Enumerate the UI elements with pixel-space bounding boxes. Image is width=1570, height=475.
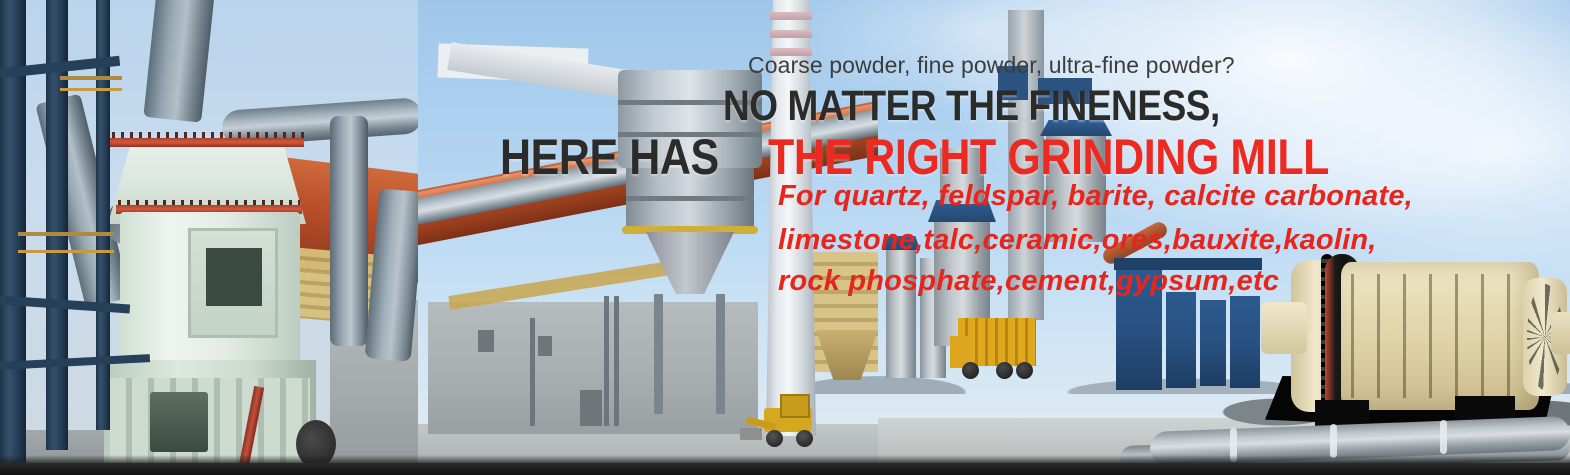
yellow-silo-cone (816, 330, 878, 380)
building-window-2 (538, 336, 552, 356)
pipeline-band-2 (1330, 424, 1337, 458)
tower-cone (646, 232, 734, 294)
chimney-band-2 (770, 30, 812, 38)
tower-leg-1 (654, 294, 663, 414)
truck-wheel-3 (1016, 362, 1033, 379)
loader-cab (780, 394, 810, 418)
mill-door-opening (206, 248, 262, 306)
handrail-1 (18, 232, 114, 236)
headline-line2-red-text: THE RIGHT GRINDING MILL (768, 128, 1329, 186)
wheel-loader (750, 400, 826, 444)
support-column-1 (604, 296, 609, 426)
headline-line1-text: NO MATTER THE FINENESS, (723, 82, 1220, 131)
headline-block: NO MATTER THE FINENESS, HERE HASTHE RIGH… (0, 82, 1570, 180)
grinding-mill-promo-banner: Coarse powder, fine powder, ultra-fine p… (0, 0, 1570, 475)
chimney-band-1 (770, 12, 812, 20)
ball-mill-bolt-pattern (1351, 274, 1529, 398)
pipeline-band-3 (1440, 420, 1447, 454)
ball-mill-discharge-trunnion (1551, 312, 1570, 354)
dump-truck (950, 318, 1042, 392)
eyebrow-question-text: Coarse powder, fine powder, ultra-fine p… (748, 52, 1235, 79)
subtext-line-3: rock phosphate,cement,gypsum,etc (778, 265, 1279, 298)
vertical-roller-mill-scene (0, 0, 418, 475)
handrail-2 (18, 250, 114, 253)
loader-bucket (740, 428, 762, 440)
loader-wheel-front (766, 430, 783, 447)
handrail-3 (60, 76, 122, 80)
subtext-line-2: limestone,talc,ceramic,ores,bauxite,kaol… (778, 224, 1377, 257)
dust-collector-2 (1166, 292, 1196, 388)
headline-line2-dark-text: HERE HAS (500, 128, 719, 186)
building-window-1 (478, 330, 494, 352)
loader-wheel-rear (796, 430, 813, 447)
bottom-dark-strip (0, 463, 1570, 475)
support-column-2 (614, 296, 619, 426)
headline-line-1: NO MATTER THE FINENESS, (0, 82, 1570, 128)
dust-collector-3 (1200, 300, 1226, 386)
headline-line-2: HERE HASTHE RIGHT GRINDING MILL (0, 128, 1570, 180)
tower-leg-2 (716, 294, 725, 414)
building-door (580, 390, 602, 426)
tower-ring-3 (626, 196, 754, 201)
truck-wheel-2 (996, 362, 1013, 379)
subtext-line-1: For quartz, feldspar, barite, calcite ca… (778, 180, 1413, 213)
support-column-3 (530, 318, 535, 426)
ball-mill-feed-trunnion (1261, 302, 1307, 354)
mill-motor (150, 392, 208, 452)
truck-wheel-1 (962, 362, 979, 379)
